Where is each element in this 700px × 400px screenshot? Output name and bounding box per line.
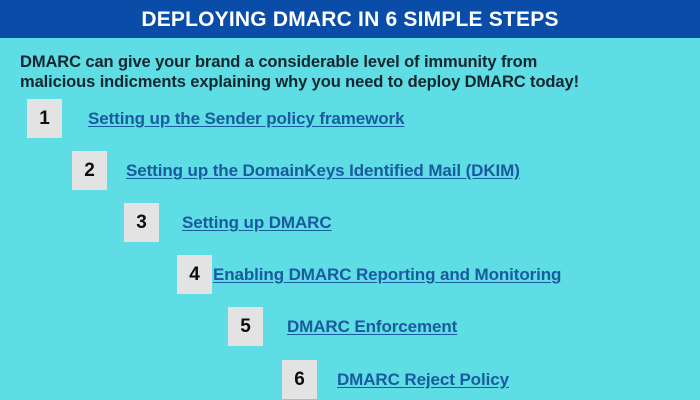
step-link-2[interactable]: Setting up the DomainKeys Identified Mai… bbox=[126, 162, 520, 179]
step-number-6: 6 bbox=[294, 370, 305, 389]
infographic-canvas: DEPLOYING DMARC IN 6 SIMPLE STEPS DMARC … bbox=[0, 0, 700, 400]
step-number-box-5: 5 bbox=[228, 307, 263, 346]
subtitle-line-2: malicious indicments explaining why you … bbox=[20, 72, 688, 92]
step-row-1: 1 Setting up the Sender policy framework bbox=[27, 99, 404, 138]
step-number-2: 2 bbox=[84, 161, 95, 180]
step-number-box-3: 3 bbox=[124, 203, 159, 242]
step-link-1[interactable]: Setting up the Sender policy framework bbox=[88, 110, 404, 127]
step-number-box-6: 6 bbox=[282, 360, 317, 399]
step-number-5: 5 bbox=[240, 317, 251, 336]
step-number-1: 1 bbox=[39, 109, 50, 128]
step-number-box-2: 2 bbox=[72, 151, 107, 190]
step-number-3: 3 bbox=[136, 213, 147, 232]
steps-list: 1 Setting up the Sender policy framework… bbox=[0, 96, 700, 400]
subtitle-line-1: DMARC can give your brand a considerable… bbox=[20, 52, 688, 72]
step-link-3[interactable]: Setting up DMARC bbox=[182, 214, 332, 231]
page-title: DEPLOYING DMARC IN 6 SIMPLE STEPS bbox=[141, 9, 558, 30]
step-number-box-1: 1 bbox=[27, 99, 62, 138]
step-link-4[interactable]: Enabling DMARC Reporting and Monitoring bbox=[213, 266, 561, 283]
step-row-4: 4 Enabling DMARC Reporting and Monitorin… bbox=[177, 255, 561, 294]
step-row-3: 3 Setting up DMARC bbox=[124, 203, 332, 242]
subtitle-text: DMARC can give your brand a considerable… bbox=[20, 52, 688, 93]
step-row-2: 2 Setting up the DomainKeys Identified M… bbox=[72, 151, 520, 190]
step-row-6: 6 DMARC Reject Policy bbox=[282, 360, 509, 399]
step-number-box-4: 4 bbox=[177, 255, 212, 294]
step-link-5[interactable]: DMARC Enforcement bbox=[287, 318, 457, 335]
step-number-4: 4 bbox=[189, 265, 200, 284]
step-link-6[interactable]: DMARC Reject Policy bbox=[337, 371, 509, 388]
step-row-5: 5 DMARC Enforcement bbox=[228, 307, 457, 346]
header-banner: DEPLOYING DMARC IN 6 SIMPLE STEPS bbox=[0, 0, 700, 38]
